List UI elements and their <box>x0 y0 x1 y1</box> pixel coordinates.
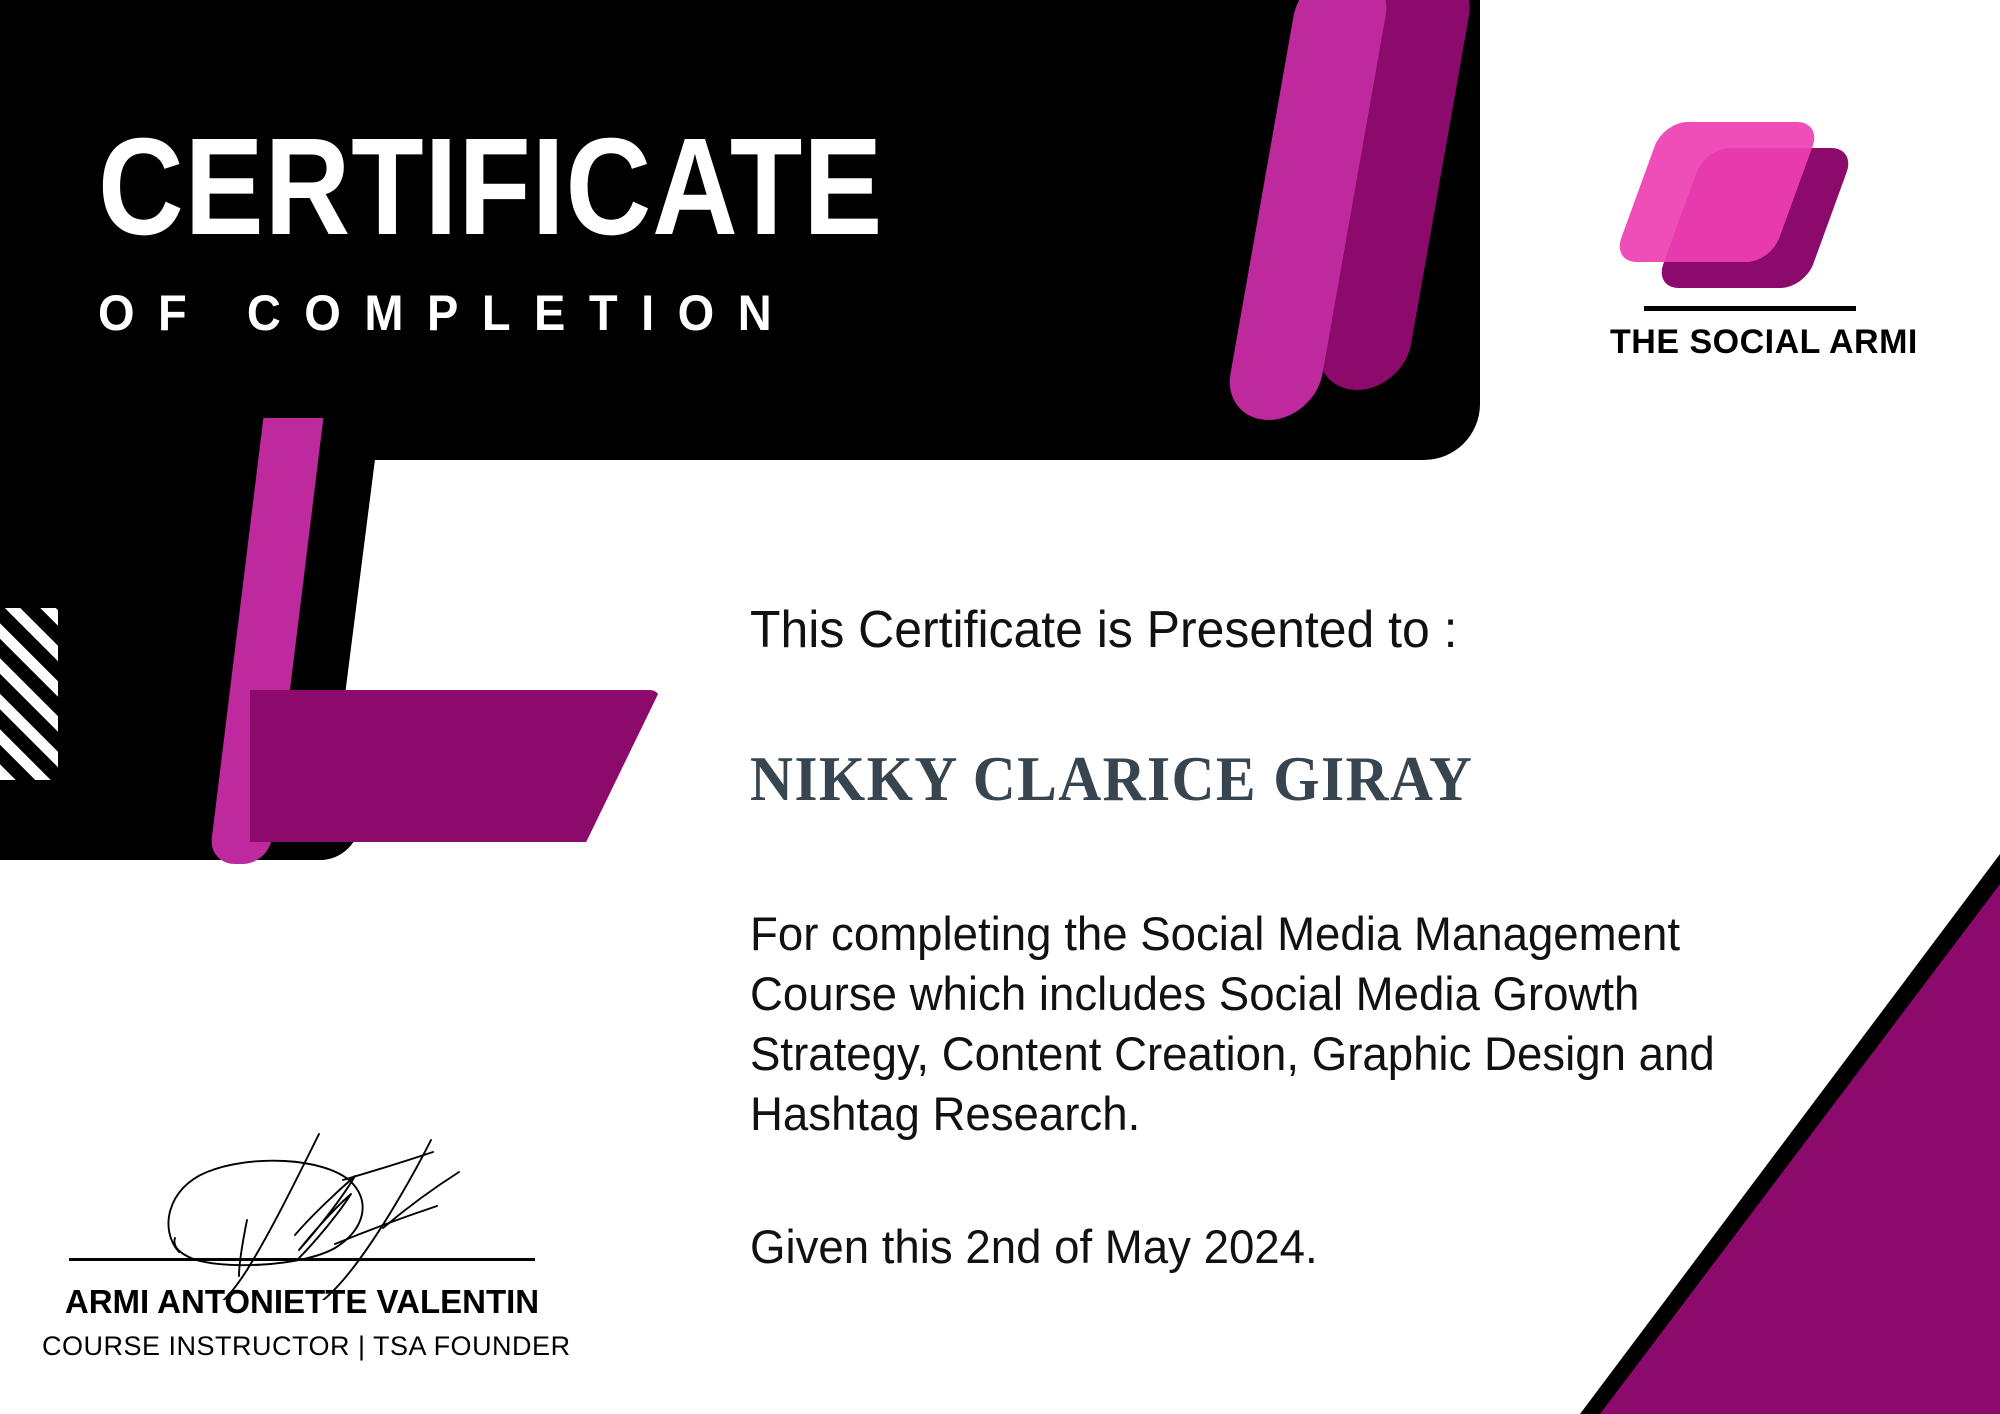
purple-flag-shape <box>250 690 660 842</box>
logo-mark-icon <box>1620 100 1880 300</box>
brand-logo: THE SOCIAL ARMI <box>1610 100 1890 362</box>
title-block: CERTIFICATE OF COMPLETION <box>98 118 1011 342</box>
presented-to-label: This Certificate is Presented to : <box>750 600 1825 660</box>
certificate-subtitle: OF COMPLETION <box>98 284 956 342</box>
diagonal-stripes-pattern <box>0 608 58 780</box>
signer-role: COURSE INSTRUCTOR | TSA FOUNDER <box>42 1331 562 1362</box>
issue-date: Given this 2nd of May 2024. <box>750 1219 1836 1274</box>
certificate-title: CERTIFICATE <box>98 118 883 256</box>
signature-block: ARMI ANTONIETTE VALENTIN COURSE INSTRUCT… <box>42 1110 562 1362</box>
handwritten-signature-icon <box>87 1110 557 1300</box>
certificate-body: This Certificate is Presented to : NIKKY… <box>750 600 1870 1274</box>
certificate-description: For completing the Social Media Manageme… <box>750 904 1778 1145</box>
brand-name: THE SOCIAL ARMI <box>1610 323 1890 362</box>
recipient-name: NIKKY CLARICE GIRAY <box>750 742 1792 816</box>
certificate-page: CERTIFICATE OF COMPLETION THE SOCIAL ARM… <box>0 0 2000 1414</box>
logo-divider-rule <box>1644 306 1856 311</box>
